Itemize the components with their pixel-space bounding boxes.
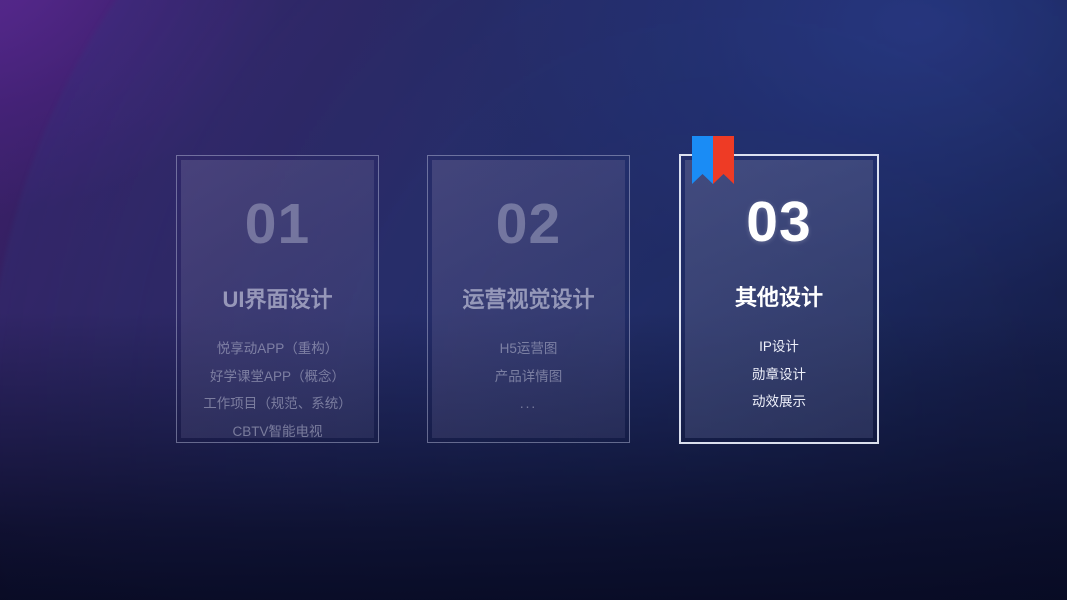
card-03-item-list: IP设计 勋章设计 动效展示 — [679, 340, 879, 409]
card-03-list-item[interactable]: 勋章设计 — [679, 368, 879, 382]
section-card-03[interactable]: 03 其他设计 IP设计 勋章设计 动效展示 — [679, 154, 879, 444]
card-03-number: 03 — [746, 194, 811, 251]
card-01-item-list: 悦享动APP（重构） 好学课堂APP（概念） 工作项目（规范、系统） CBTV智… — [176, 342, 379, 438]
card-01-list-item[interactable]: 悦享动APP（重构） — [176, 342, 379, 356]
card-02-title: 运营视觉设计 — [462, 289, 594, 311]
card-02-list-item-ellipsis: ... — [427, 397, 630, 411]
section-card-02[interactable]: 02 运营视觉设计 H5运营图 产品详情图 ... — [427, 155, 630, 443]
card-02-list-item[interactable]: 产品详情图 — [427, 370, 630, 384]
section-card-01[interactable]: 01 UI界面设计 悦享动APP（重构） 好学课堂APP（概念） 工作项目（规范… — [176, 155, 379, 443]
card-01-list-item[interactable]: CBTV智能电视 — [176, 425, 379, 439]
card-01-list-item[interactable]: 好学课堂APP（概念） — [176, 370, 379, 384]
card-03-list-item[interactable]: 动效展示 — [679, 395, 879, 409]
slide-canvas: 01 UI界面设计 悦享动APP（重构） 好学课堂APP（概念） 工作项目（规范… — [0, 0, 1067, 600]
card-01-title: UI界面设计 — [222, 289, 332, 311]
card-02-content: 02 运营视觉设计 H5运营图 产品详情图 ... — [427, 155, 630, 443]
card-02-list-item[interactable]: H5运营图 — [427, 342, 630, 356]
card-01-content: 01 UI界面设计 悦享动APP（重构） 好学课堂APP（概念） 工作项目（规范… — [176, 155, 379, 443]
card-02-item-list: H5运营图 产品详情图 ... — [427, 342, 630, 411]
card-03-content: 03 其他设计 IP设计 勋章设计 动效展示 — [679, 154, 879, 444]
card-01-number: 01 — [245, 196, 310, 253]
bookmark-ribbon-icon — [692, 136, 734, 184]
card-02-number: 02 — [496, 196, 561, 253]
card-03-title: 其他设计 — [735, 287, 823, 309]
card-01-list-item[interactable]: 工作项目（规范、系统） — [176, 397, 379, 411]
card-03-list-item[interactable]: IP设计 — [679, 340, 879, 354]
